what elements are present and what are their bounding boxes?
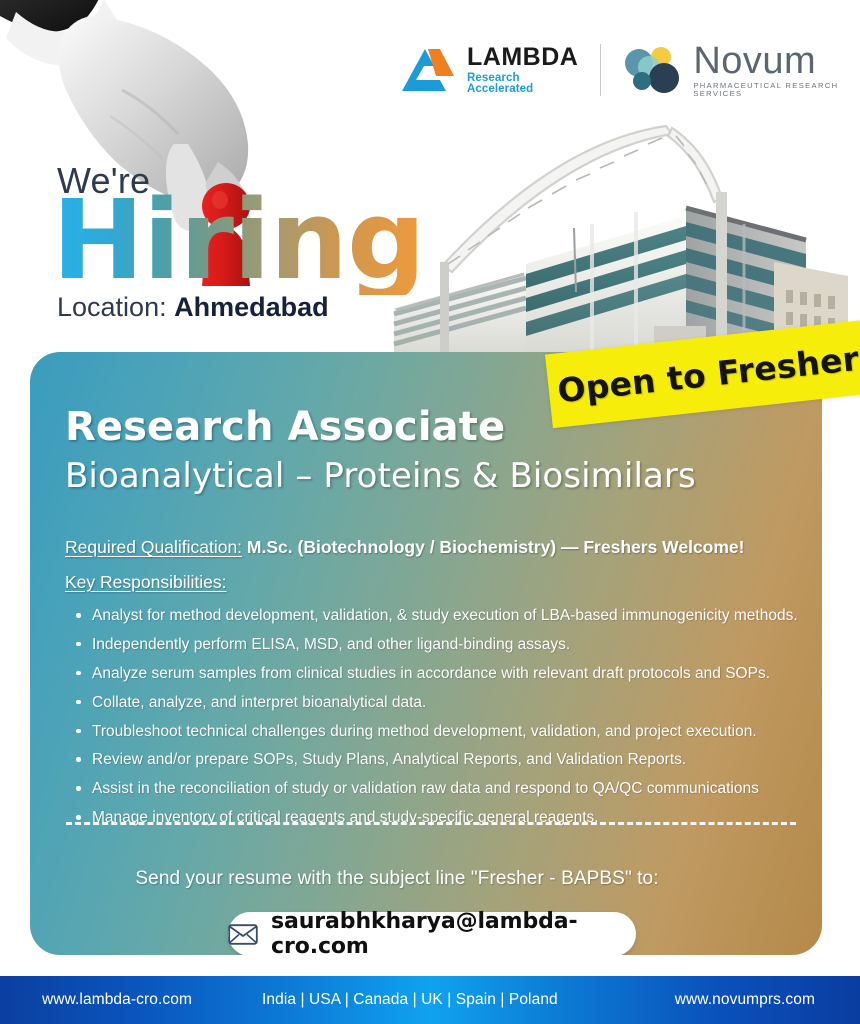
qualification-value: M.Sc. (Biotechnology / Biochemistry) — F… [247,537,745,557]
logo-bar: LAMBDA Research Accelerated Novum PHARMA… [400,34,840,106]
email-address[interactable]: saurabhkharya@lambda-cro.com [271,909,636,955]
footer-countries: India | USA | Canada | UK | Spain | Pola… [262,991,558,1009]
novum-name: Novum [693,42,840,80]
envelope-icon [228,924,258,945]
recruitment-poster: LAMBDA Research Accelerated Novum PHARMA… [0,0,860,1024]
list-item: Analyst for method development, validati… [68,606,808,625]
list-item: Independently perform ELISA, MSD, and ot… [68,635,808,654]
job-subtitle: Bioanalytical – Proteins & Biosimilars [65,456,696,496]
lambda-tagline: Research Accelerated [467,73,578,96]
responsibilities-label: Key Responsibilities: [65,572,226,593]
lambda-triangle-icon [400,47,456,93]
location-line: Location: Ahmedabad [57,292,329,323]
qualification-line: Required Qualification: M.Sc. (Biotechno… [65,537,744,558]
send-resume-instruction: Send your resume with the subject line "… [30,868,822,890]
hiring-headline-wrap: Hiring [52,185,425,295]
job-details-card: Research Associate Bioanalytical – Prote… [30,352,822,955]
footer-novum-url[interactable]: www.novumprs.com [675,991,815,1009]
logo-divider [600,44,601,96]
location-value: Ahmedabad [174,292,329,322]
hiring-headline: Hiring [52,185,425,295]
qualification-label: Required Qualification: [65,537,242,557]
lambda-logo: LAMBDA Research Accelerated [400,45,578,96]
novum-tagline: PHARMACEUTICAL RESEARCH SERVICES [693,82,840,97]
footer-bar: www.lambda-cro.com India | USA | Canada … [0,976,860,1024]
novum-circles-icon [623,44,681,96]
novum-logo: Novum PHARMACEUTICAL RESEARCH SERVICES [623,42,840,97]
list-item: Review and/or prepare SOPs, Study Plans,… [68,750,808,769]
list-item: Collate, analyze, and interpret bioanaly… [68,693,808,712]
lambda-name: LAMBDA [467,45,578,70]
email-cta-pill[interactable]: saurabhkharya@lambda-cro.com [228,912,636,955]
job-title: Research Associate [65,404,505,450]
list-item: Troubleshoot technical challenges during… [68,722,808,741]
footer-lambda-url[interactable]: www.lambda-cro.com [42,991,192,1009]
list-item: Analyze serum samples from clinical stud… [68,664,808,683]
list-item: Assist in the reconciliation of study or… [68,779,808,798]
location-label: Location: [57,292,167,322]
responsibilities-list: Analyst for method development, validati… [68,606,808,837]
dashed-divider [66,822,796,825]
